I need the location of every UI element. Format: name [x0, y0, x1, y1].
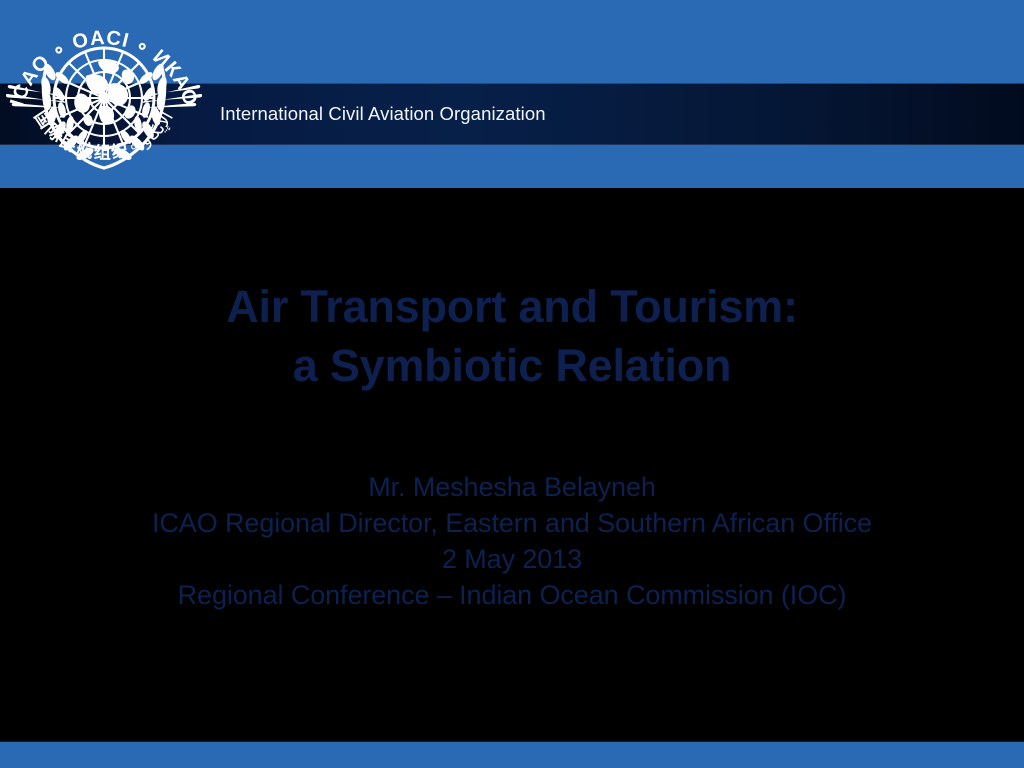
organization-title: International Civil Aviation Organizatio…	[220, 91, 546, 137]
slide-subtitle: Mr. Meshesha Belayneh ICAO Regional Dire…	[0, 470, 1024, 614]
title-line-2: a Symbiotic Relation	[0, 336, 1024, 395]
slide-body	[0, 188, 1024, 741]
icao-logo: ICAO ∘ OACI ∘ ИКАО	[6, 2, 202, 184]
bottom-blue-band	[0, 741, 1024, 768]
title-line-1: Air Transport and Tourism:	[0, 277, 1024, 336]
presentation-slide: International Civil Aviation Organizatio…	[0, 0, 1024, 768]
presenter-role: ICAO Regional Director, Eastern and Sout…	[0, 506, 1024, 542]
presentation-date: 2 May 2013	[0, 542, 1024, 578]
presenter-name: Mr. Meshesha Belayneh	[0, 470, 1024, 506]
event-name: Regional Conference – Indian Ocean Commi…	[0, 578, 1024, 614]
slide-title: Air Transport and Tourism: a Symbiotic R…	[0, 277, 1024, 396]
